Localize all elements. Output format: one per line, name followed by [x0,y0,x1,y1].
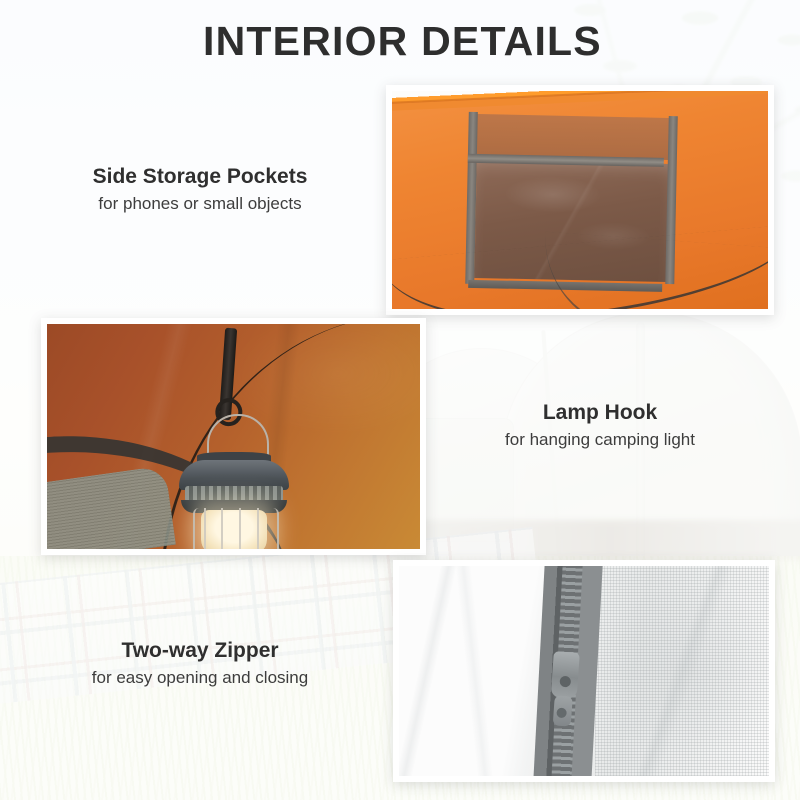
rust-tent-interior [47,324,420,549]
caption-lamp-hook: Lamp Hook for hanging camping light [455,400,745,452]
caption-subtitle: for easy opening and closing [40,667,360,690]
photo-side-storage-pockets [386,85,774,315]
caption-side-storage-pockets: Side Storage Pockets for phones or small… [45,164,355,216]
photo-inner [47,324,420,549]
caption-subtitle: for phones or small objects [45,193,355,216]
caption-title: Lamp Hook [455,400,745,426]
photo-inner [392,91,768,309]
lantern-cage [193,508,279,549]
camping-lantern [175,452,293,549]
orange-tent-wall [392,91,768,309]
pocket-upper-mesh [473,114,674,160]
caption-title: Two-way Zipper [40,638,360,664]
photo-two-way-zipper [393,560,775,782]
infographic-canvas: INTERIOR DETAILS [0,0,800,800]
mesh-panel [595,566,769,776]
tent-top-edge [392,91,768,111]
page-title: INTERIOR DETAILS [203,19,602,64]
caption-title: Side Storage Pockets [45,164,355,190]
zipper-slider-body [551,651,580,699]
photo-inner [399,566,769,776]
caption-two-way-zipper: Two-way Zipper for easy opening and clos… [40,638,360,690]
caption-subtitle: for hanging camping light [455,429,745,452]
photo-lamp-hook [41,318,426,555]
